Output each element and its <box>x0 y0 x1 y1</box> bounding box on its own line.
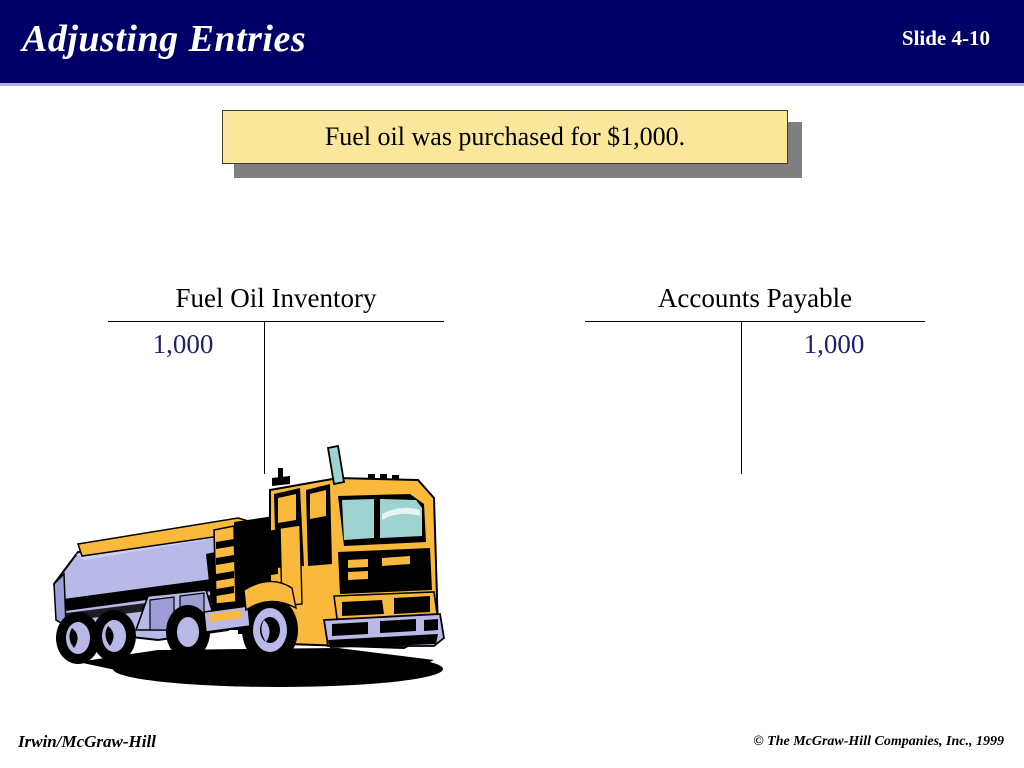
footer-publisher: Irwin/McGraw-Hill <box>18 732 156 752</box>
header-underline <box>0 83 1024 86</box>
t-account-title: Accounts Payable <box>585 283 925 314</box>
t-account-title: Fuel Oil Inventory <box>108 283 444 314</box>
callout-text: Fuel oil was purchased for $1,000. <box>325 122 685 152</box>
t-account-debit-amount: 1,000 <box>108 329 258 360</box>
t-account-vertical-rule <box>741 321 742 474</box>
t-account-horizontal-rule <box>108 321 444 322</box>
t-account-horizontal-rule <box>585 321 925 322</box>
t-account-credit-amount: 1,000 <box>743 329 925 360</box>
footer-copyright: © The McGraw-Hill Companies, Inc., 1999 <box>753 734 1004 750</box>
slide-number-label: Slide 4-10 <box>902 26 990 51</box>
callout-box-surface: Fuel oil was purchased for $1,000. <box>222 110 788 164</box>
t-account-accounts-payable: Accounts Payable 1,000 <box>585 283 925 483</box>
page-title: Adjusting Entries <box>22 17 306 61</box>
fuel-tanker-truck-icon <box>38 434 458 696</box>
callout-box: Fuel oil was purchased for $1,000. <box>222 110 790 166</box>
